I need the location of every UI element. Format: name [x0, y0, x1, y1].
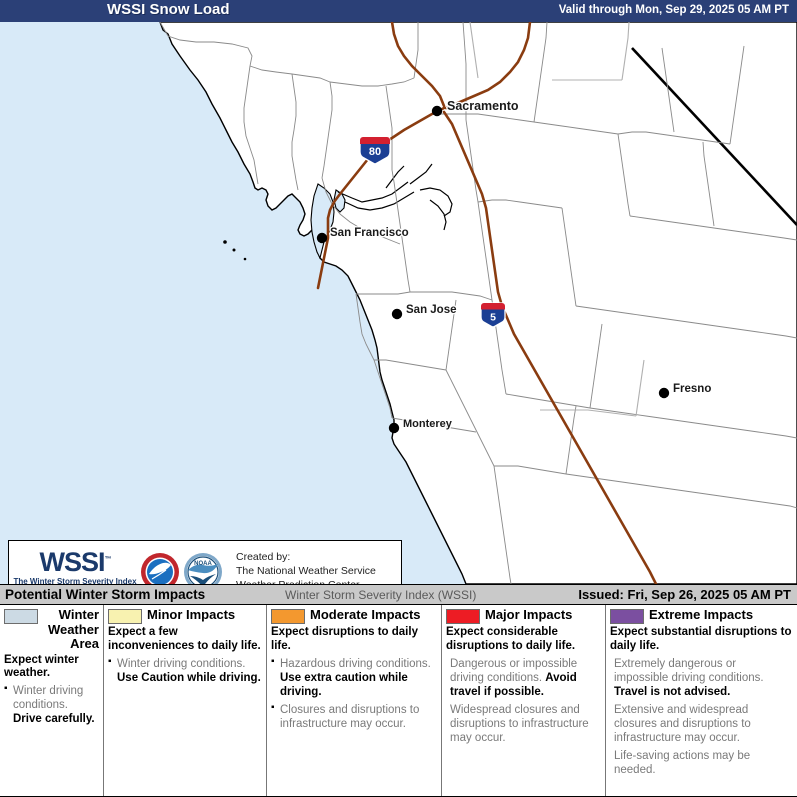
issued-label: Issued: Fri, Sep 26, 2025 05 AM PT — [578, 587, 791, 602]
legend-bullet: Winter driving conditions. Drive careful… — [4, 684, 99, 726]
legend-bullet: Winter driving conditions. Use Caution w… — [108, 657, 262, 685]
svg-text:San Francisco: San Francisco — [330, 227, 409, 239]
svg-text:80: 80 — [369, 146, 381, 158]
legend-bullet: Dangerous or impossible driving conditio… — [446, 657, 601, 699]
wssi-snow-load-page: WSSI Snow Load Valid through Mon, Sep 29… — [0, 0, 797, 797]
legend-title: Winter Weather Area — [43, 608, 99, 652]
agency-seals: NOAA — [135, 552, 228, 584]
legend-bullet: Closures and disruptions to infrastructu… — [271, 703, 437, 731]
legend-header: Moderate Impacts — [271, 608, 437, 624]
created-by-line-1: Created by: — [236, 551, 376, 565]
legend-color-swatch — [4, 609, 38, 624]
svg-text:Monterey: Monterey — [403, 418, 453, 430]
legend-header: Extreme Impacts — [610, 608, 793, 624]
page-title: WSSI Snow Load — [107, 1, 230, 18]
legend-color-swatch — [271, 609, 305, 624]
wssi-wordmark: WSSI™ — [39, 549, 110, 576]
legend-column-major-impacts: Major ImpactsExpect considerable disrupt… — [442, 605, 606, 796]
legend-bullet: Hazardous driving conditions. Use extra … — [271, 657, 437, 699]
map-canvas[interactable]: Sacramento San Francisco San Jose Monter… — [0, 22, 797, 584]
trademark-symbol: ™ — [105, 556, 111, 563]
legend-bullet-list: Winter driving conditions. Use Caution w… — [108, 657, 262, 685]
page-header: WSSI Snow Load Valid through Mon, Sep 29… — [0, 0, 797, 22]
legend-bullet: Widespread closures and disruptions to i… — [446, 703, 601, 745]
legend-lead-text: Expect a few inconveniences to daily lif… — [108, 626, 262, 654]
legend-bullet-list: Hazardous driving conditions. Use extra … — [271, 657, 437, 731]
valid-through-label: Valid through Mon, Sep 29, 2025 05 AM PT — [559, 4, 789, 16]
legend-header: Minor Impacts — [108, 608, 262, 624]
legend-bullet: Extremely dangerous or impossible drivin… — [610, 657, 793, 699]
legend-column-extreme-impacts: Extreme ImpactsExpect substantial disrup… — [606, 605, 797, 796]
legend-color-swatch — [610, 609, 644, 624]
legend-title: Minor Impacts — [147, 608, 235, 623]
created-by-text: Created by: The National Weather Service… — [228, 551, 376, 584]
legend-bullet-list: Extremely dangerous or impossible drivin… — [610, 657, 793, 777]
created-by-line-2: The National Weather Service — [236, 565, 376, 579]
attribution-panel: WSSI™ The Winter Storm Severity Index — [8, 540, 402, 584]
legend-column-minor-impacts: Minor ImpactsExpect a few inconveniences… — [104, 605, 267, 796]
impacts-title: Potential Winter Storm Impacts — [5, 587, 205, 602]
svg-text:5: 5 — [490, 312, 496, 324]
legend-lead-text: Expect winter weather. — [4, 654, 99, 682]
legend-bullet-list: Dangerous or impossible driving conditio… — [446, 657, 601, 745]
legend-column-winter-weather-area: Winter Weather AreaExpect winter weather… — [0, 605, 104, 796]
impacts-header-bar: Potential Winter Storm Impacts Winter St… — [0, 584, 797, 605]
wssi-subtitle: Winter Storm Severity Index (WSSI) — [285, 588, 476, 602]
wssi-tagline: The Winter Storm Severity Index — [13, 577, 136, 584]
legend-color-swatch — [108, 609, 142, 624]
svg-text:Fresno: Fresno — [673, 383, 711, 395]
legend-header: Winter Weather Area — [4, 608, 99, 652]
svg-text:Sacramento: Sacramento — [447, 99, 519, 113]
legend-color-swatch — [446, 609, 480, 624]
created-by-line-3: Weather Prediction Center — [236, 579, 376, 584]
svg-text:San Jose: San Jose — [406, 304, 457, 316]
legend-title: Extreme Impacts — [649, 608, 753, 623]
wssi-logo: WSSI™ The Winter Storm Severity Index — [9, 549, 135, 584]
legend-lead-text: Expect substantial disruptions to daily … — [610, 626, 793, 654]
legend-lead-text: Expect considerable disruptions to daily… — [446, 626, 601, 654]
legend-header: Major Impacts — [446, 608, 601, 624]
legend-bullet-list: Winter driving conditions. Drive careful… — [4, 684, 99, 726]
legend-bullet: Extensive and widespread closures and di… — [610, 703, 793, 745]
nws-seal-icon — [140, 552, 180, 584]
legend-title: Major Impacts — [485, 608, 572, 623]
svg-text:NOAA: NOAA — [194, 561, 212, 567]
legend-bullet: Life-saving actions may be needed. — [610, 749, 793, 777]
impact-legend: Winter Weather AreaExpect winter weather… — [0, 605, 797, 797]
legend-lead-text: Expect disruptions to daily life. — [271, 626, 437, 654]
legend-title: Moderate Impacts — [310, 608, 421, 623]
noaa-seal-icon: NOAA — [183, 552, 223, 584]
legend-column-moderate-impacts: Moderate ImpactsExpect disruptions to da… — [267, 605, 442, 796]
